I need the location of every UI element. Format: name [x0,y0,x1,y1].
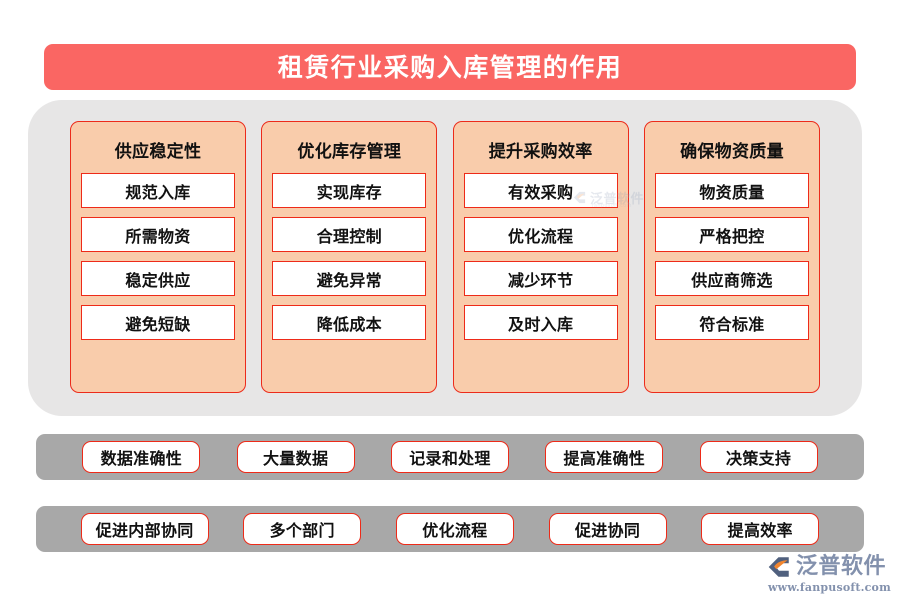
main-panel: 供应稳定性 规范入库 所需物资 稳定供应 避免短缺 优化库存管理 实现库存 合理… [28,100,862,416]
benefit-pill[interactable]: 促进内部协同 [81,513,209,545]
benefit-pill[interactable]: 多个部门 [243,513,361,545]
category-item[interactable]: 符合标准 [655,305,809,340]
category-item[interactable]: 避免短缺 [81,305,235,340]
title-banner: 租赁行业采购入库管理的作用 [44,44,856,90]
column-group: 供应稳定性 规范入库 所需物资 稳定供应 避免短缺 优化库存管理 实现库存 合理… [70,121,820,393]
category-title: 提升采购效率 [464,131,618,173]
benefit-pill[interactable]: 提高准确性 [545,441,663,473]
category-item[interactable]: 所需物资 [81,217,235,252]
category-item[interactable]: 规范入库 [81,173,235,208]
brand-logo: 泛普软件 www.fanpusoft.com [766,553,896,597]
category-item[interactable]: 避免异常 [272,261,426,296]
infographic-root: 租赁行业采购入库管理的作用 供应稳定性 规范入库 所需物资 稳定供应 避免短缺 … [0,0,900,600]
brand-row: 泛普软件 [766,553,896,580]
category-column-1[interactable]: 供应稳定性 规范入库 所需物资 稳定供应 避免短缺 [70,121,246,393]
category-item[interactable]: 合理控制 [272,217,426,252]
benefit-pill[interactable]: 数据准确性 [82,441,200,473]
category-column-4[interactable]: 确保物资质量 物资质量 严格把控 供应商筛选 符合标准 [644,121,820,393]
benefit-pill[interactable]: 促进协同 [549,513,667,545]
category-item-list: 实现库存 合理控制 避免异常 降低成本 [272,173,426,340]
category-item[interactable]: 有效采购 [464,173,618,208]
category-column-2[interactable]: 优化库存管理 实现库存 合理控制 避免异常 降低成本 [261,121,437,393]
benefit-bar-2: 促进内部协同 多个部门 优化流程 促进协同 提高效率 [36,506,864,552]
benefit-pill[interactable]: 记录和处理 [391,441,509,473]
category-item[interactable]: 稳定供应 [81,261,235,296]
category-item-list: 有效采购 优化流程 减少环节 及时入库 [464,173,618,340]
category-item[interactable]: 严格把控 [655,217,809,252]
category-item-list: 物资质量 严格把控 供应商筛选 符合标准 [655,173,809,340]
category-item[interactable]: 物资质量 [655,173,809,208]
benefit-pill[interactable]: 大量数据 [237,441,355,473]
brand-name: 泛普软件 [796,556,886,578]
category-item[interactable]: 减少环节 [464,261,618,296]
category-item[interactable]: 供应商筛选 [655,261,809,296]
category-title: 供应稳定性 [81,131,235,173]
page-title: 租赁行业采购入库管理的作用 [278,55,623,80]
category-title: 优化库存管理 [272,131,426,173]
benefit-pill[interactable]: 决策支持 [700,441,818,473]
category-item[interactable]: 及时入库 [464,305,618,340]
category-column-3[interactable]: 提升采购效率 有效采购 优化流程 减少环节 及时入库 [453,121,629,393]
category-item[interactable]: 优化流程 [464,217,618,252]
benefit-bar-1: 数据准确性 大量数据 记录和处理 提高准确性 决策支持 [36,434,864,480]
fanpu-logo-icon [766,554,792,580]
category-item-list: 规范入库 所需物资 稳定供应 避免短缺 [81,173,235,340]
category-item[interactable]: 降低成本 [272,305,426,340]
brand-url: www.fanpusoft.com [768,581,896,594]
benefit-pill[interactable]: 提高效率 [701,513,819,545]
category-title: 确保物资质量 [655,131,809,173]
category-item[interactable]: 实现库存 [272,173,426,208]
benefit-pill[interactable]: 优化流程 [396,513,514,545]
